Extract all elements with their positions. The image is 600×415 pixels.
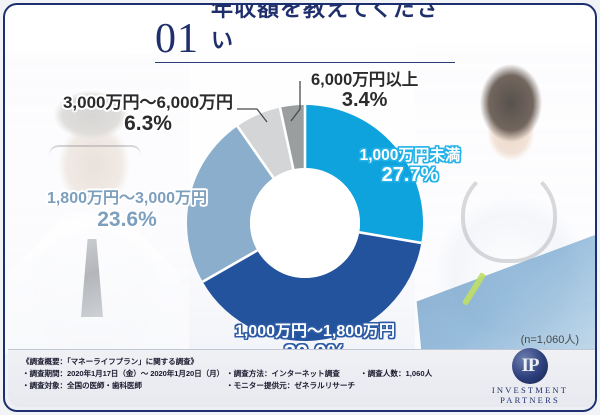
card-frame: 01 年収額を教えてください 6,000万円以上 3.4% 3,000万円〜6,…	[3, 3, 597, 412]
footer-target: ・調査対象：全国の医師・歯科医師	[22, 380, 224, 392]
footer-method: ・調査方法：インターネット調査	[226, 368, 355, 380]
brand-logo: IP INVESTMENT PARTNERS	[478, 348, 582, 405]
footer-overview: 《調査概要：「マネーライフプラン」に関する調査》	[22, 356, 224, 368]
label-under-1000-text: 1,000万円未満	[335, 147, 485, 164]
label-under-1000-pct: 27.7%	[335, 164, 485, 186]
footer-col-1: 《調査概要：「マネーライフプラン」に関する調査》 ・調査期間：2020年1月17…	[22, 356, 224, 391]
photo-female-doctor	[415, 45, 597, 355]
footer: 《調査概要：「マネーライフプラン」に関する調査》 ・調査期間：2020年1月17…	[8, 349, 597, 407]
page-title: 01 年収額を教えてください	[155, 11, 455, 63]
label-over-6000-pct: 3.4%	[311, 89, 418, 111]
sample-size: (n=1,060人)	[521, 331, 579, 347]
footer-period: ・調査期間：2020年1月17日（金）〜 2020年1月20日（月）	[22, 368, 224, 380]
photo-male-glasses	[49, 145, 141, 165]
infographic-root: 01 年収額を教えてください 6,000万円以上 3.4% 3,000万円〜6,…	[0, 0, 600, 415]
label-under-1000: 1,000万円未満 27.7%	[335, 147, 485, 187]
label-3000-6000: 3,000万円〜6,000万円 6.3%	[23, 93, 273, 136]
footer-col-2: ・調査方法：インターネット調査 ・モニター提供元：ゼネラルリサーチ	[226, 368, 355, 392]
label-1000-1800-text: 1,000万円〜1,800万円	[205, 323, 425, 341]
label-1800-3000-text: 1,800万円〜3,000万円	[27, 190, 227, 208]
logo-mark-icon: IP	[512, 348, 548, 384]
label-over-6000-text: 6,000万円以上	[311, 71, 418, 89]
title-number: 01	[155, 20, 199, 59]
logo-line-2: PARTNERS	[478, 395, 582, 405]
label-1800-3000-pct: 23.6%	[27, 208, 227, 232]
footer-monitor: ・モニター提供元：ゼネラルリサーチ	[226, 380, 355, 392]
label-3000-6000-text: 3,000万円〜6,000万円	[23, 93, 273, 112]
logo-line-1: INVESTMENT	[478, 385, 582, 395]
footer-col-3: ・調査人数：1,060人	[360, 368, 432, 380]
footer-count: ・調査人数：1,060人	[360, 368, 432, 380]
title-question: 年収額を教えてください	[211, 3, 455, 59]
label-over-6000: 6,000万円以上 3.4%	[311, 71, 418, 112]
label-3000-6000-pct: 6.3%	[23, 112, 273, 136]
label-1800-3000: 1,800万円〜3,000万円 23.6%	[27, 190, 227, 231]
